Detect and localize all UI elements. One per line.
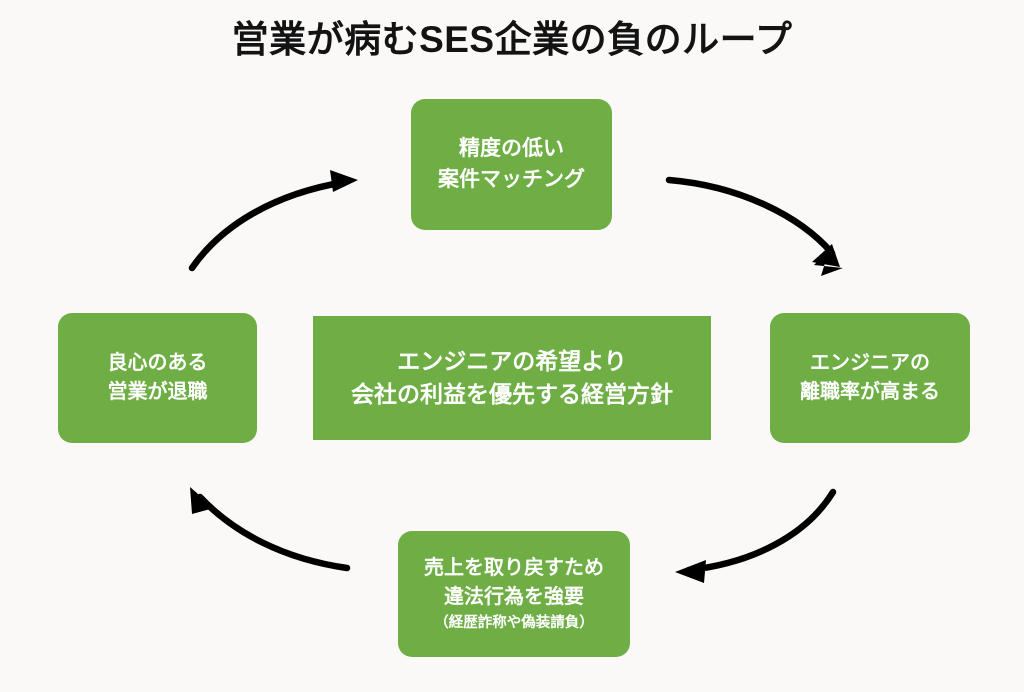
arrow-top-to-right (669, 180, 832, 253)
arrowhead-bottom-to-left (190, 487, 214, 514)
node-left-line-1: 良心のある (108, 349, 208, 378)
arrowhead-top-to-right (814, 250, 843, 276)
node-bottom-line-2: 違法行為を強要 (444, 583, 584, 612)
node-left-line-2: 営業が退職 (108, 378, 208, 407)
node-center-policy[interactable]: エンジニアの希望より 会社の利益を優先する経営方針 (313, 316, 711, 440)
arrow-bottom-to-left (200, 497, 347, 568)
arrowhead-top-to-right-solid (812, 244, 840, 267)
arrow-right-to-bottom (689, 492, 833, 570)
page-title: 営業が病むSES企業の負のループ (0, 18, 1024, 62)
node-bottom-illegal-acts[interactable]: 売上を取り戻すため 違法行為を強要 （経歴詐称や偽装請負） (398, 531, 630, 657)
arrowhead-right-to-bottom (675, 560, 706, 583)
node-center-line-1: エンジニアの希望より (397, 345, 627, 378)
node-top-line-1: 精度の低い (459, 134, 564, 164)
node-bottom-line-1: 売上を取り戻すため (424, 554, 604, 583)
node-center-line-2: 会社の利益を優先する経営方針 (351, 378, 673, 411)
node-right-line-1: エンジニアの (810, 349, 930, 378)
arrow-left-to-top (192, 182, 345, 268)
node-left-sales-resign[interactable]: 良心のある 営業が退職 (58, 313, 257, 443)
arrowhead-left-to-top (330, 170, 358, 192)
node-bottom-subnote: （経歴詐称や偽装請負） (434, 613, 594, 635)
diagram-canvas: 営業が病むSES企業の負のループ エンジニアの希望より 会社の利益を優先 (0, 0, 1024, 692)
node-top-line-2: 案件マッチング (438, 165, 585, 195)
node-right-turnover[interactable]: エンジニアの 離職率が高まる (770, 313, 970, 443)
node-right-line-2: 離職率が高まる (800, 378, 940, 407)
node-top-matching[interactable]: 精度の低い 案件マッチング (411, 99, 612, 230)
